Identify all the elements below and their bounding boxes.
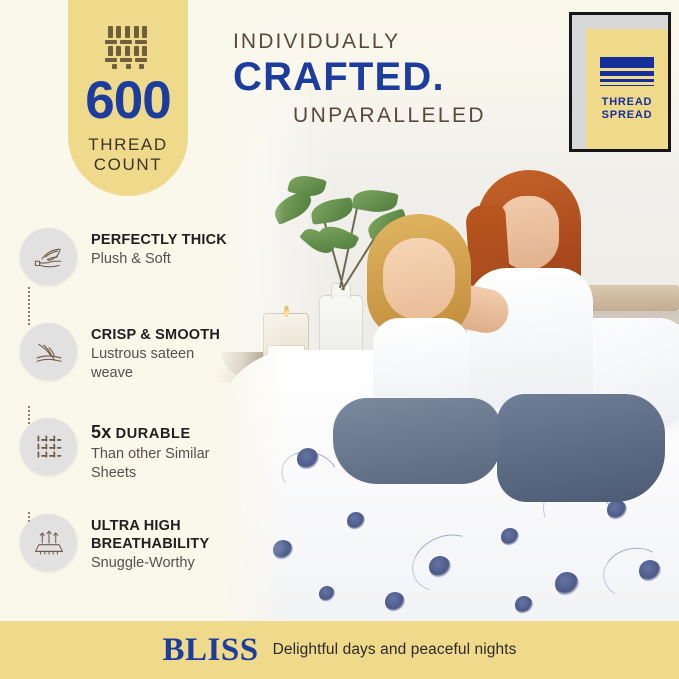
bottom-banner: BLISS Delightful days and peaceful night…	[0, 621, 679, 679]
child-jeans	[333, 398, 501, 484]
banner-title: BLISS	[163, 632, 259, 669]
headline-top: INDIVIDUALLY	[233, 30, 486, 54]
logo-text-line2: SPREAD	[602, 109, 653, 121]
feature-text: CRISP & SMOOTH Lustrous sateen weave	[91, 323, 235, 382]
logo-text-line1: THREAD	[602, 96, 653, 108]
feature-desc: Snuggle-Worthy	[91, 554, 235, 573]
thread-count-number: 600	[68, 74, 188, 127]
feature-title: PERFECTLY THICK	[91, 232, 227, 249]
woven-thread-icon	[102, 22, 154, 70]
banner-tagline: Delightful days and peaceful nights	[273, 641, 517, 659]
floral-motif	[515, 596, 533, 614]
basket-weave-icon	[20, 418, 77, 475]
feature-desc: Than other Similar Sheets	[91, 445, 235, 482]
floral-motif	[385, 592, 405, 612]
feature-title: CRISP & SMOOTH	[91, 327, 235, 344]
child-face	[383, 238, 455, 320]
thread-count-badge: 600 THREAD COUNT	[68, 0, 188, 196]
headline-block: INDIVIDUALLY CRAFTED. UNPARALLELED	[233, 30, 486, 128]
floral-motif	[319, 586, 335, 602]
logo-plate: THREAD SPREAD	[586, 29, 668, 149]
feature-desc: Lustrous sateen weave	[91, 345, 235, 382]
feature-item: 5x DURABLE Than other Similar Sheets	[20, 418, 235, 482]
hand-feather-icon	[20, 228, 77, 285]
feature-item: CRISP & SMOOTH Lustrous sateen weave	[20, 323, 235, 382]
logo-text: THREAD SPREAD	[602, 96, 653, 121]
thread-count-label: THREAD COUNT	[68, 135, 188, 175]
feature-title-prefix: 5x	[91, 422, 111, 442]
feature-title-main: DURABLE	[116, 426, 191, 442]
framed-logo: THREAD SPREAD	[569, 12, 671, 152]
feature-title: ULTRA HIGH BREATHABILITY	[91, 518, 235, 553]
feature-item: ULTRA HIGH BREATHABILITY Snuggle-Worthy	[20, 514, 235, 572]
headline-main: CRAFTED.	[233, 56, 486, 98]
hand-smoothing-fabric-icon	[20, 323, 77, 380]
feature-text: PERFECTLY THICK Plush & Soft	[91, 228, 227, 269]
feature-desc: Plush & Soft	[91, 250, 227, 269]
feature-item: PERFECTLY THICK Plush & Soft	[20, 228, 235, 285]
feature-text: ULTRA HIGH BREATHABILITY Snuggle-Worthy	[91, 514, 235, 572]
feature-title: 5x DURABLE	[91, 422, 235, 444]
feature-list: PERFECTLY THICK Plush & Soft CRISP & SMO…	[20, 228, 235, 573]
floral-motif	[501, 528, 519, 546]
breathability-airflow-icon	[20, 514, 77, 571]
adult-jeans	[497, 394, 665, 502]
floral-motif	[347, 512, 365, 530]
floral-motif	[555, 572, 579, 596]
feature-text: 5x DURABLE Than other Similar Sheets	[91, 418, 235, 482]
headline-bottom: UNPARALLELED	[293, 104, 486, 128]
logo-bars-icon	[600, 57, 654, 90]
thread-count-label-line2: COUNT	[94, 155, 162, 174]
thread-count-label-line1: THREAD	[88, 135, 168, 154]
